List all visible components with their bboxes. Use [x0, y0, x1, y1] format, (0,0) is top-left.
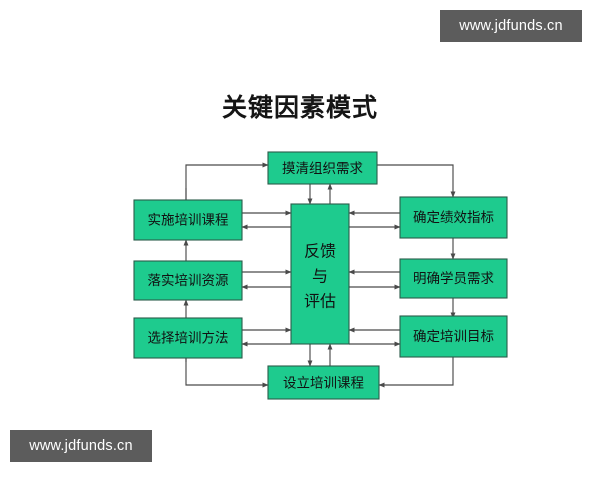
node-right-3[interactable]: 确定培训目标: [400, 316, 507, 357]
node-right-3-label: 确定培训目标: [413, 329, 494, 345]
node-center[interactable]: 反馈 与 评估: [291, 204, 349, 344]
node-top[interactable]: 摸清组织需求: [268, 152, 377, 184]
node-left-3[interactable]: 选择培训方法: [134, 318, 242, 358]
node-left-1-label: 实施培训课程: [148, 213, 229, 229]
node-right-1-label: 确定绩效指标: [413, 210, 494, 226]
node-right-2[interactable]: 明确学员需求: [400, 259, 507, 298]
node-center-label-line-2: 与: [312, 267, 328, 286]
node-bottom-label: 设立培训课程: [283, 376, 364, 392]
node-bottom[interactable]: 设立培训课程: [268, 366, 379, 399]
connector-left1-to-top: [186, 165, 268, 200]
node-center-label-line-3: 评估: [304, 292, 336, 311]
watermark-top-right: www.jdfunds.cn: [440, 10, 582, 42]
node-top-label: 摸清组织需求: [282, 161, 363, 177]
node-right-1[interactable]: 确定绩效指标: [400, 197, 507, 238]
node-left-3-label: 选择培训方法: [148, 331, 229, 347]
node-center-label-line-1: 反馈: [304, 242, 336, 261]
node-left-2-label: 落实培训资源: [148, 273, 229, 289]
node-right-2-label: 明确学员需求: [413, 271, 494, 287]
connector-top-to-right1: [377, 165, 453, 197]
watermark-bottom-left: www.jdfunds.cn: [10, 430, 152, 462]
node-left-2[interactable]: 落实培训资源: [134, 261, 242, 300]
node-left-1[interactable]: 实施培训课程: [134, 200, 242, 240]
flowchart-diagram: 摸清组织需求 实施培训课程 落实培训资源 选择培训方法 确定绩效指标 明确学员需…: [0, 0, 600, 480]
